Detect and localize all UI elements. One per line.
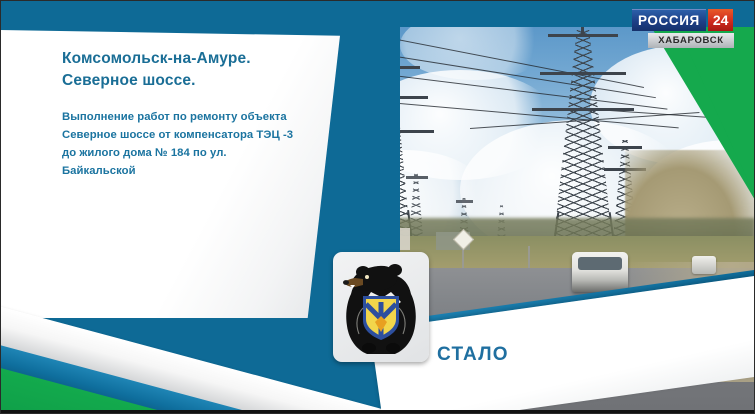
broadcast-screen: Комсомольск-на-Амуре. Северное шоссе. Вы… — [0, 0, 755, 414]
info-card: Комсомольск-на-Амуре. Северное шоссе. Вы… — [0, 30, 340, 318]
page-title: Комсомольск-на-Амуре. Северное шоссе. — [62, 48, 302, 92]
channel-number-label: 24 — [708, 9, 734, 31]
channel-region-label: ХАБАРОВСК — [648, 33, 734, 48]
status-badge: СТАЛО — [437, 344, 509, 366]
bottom-black-bar — [0, 410, 755, 414]
title-line-1: Комсомольск-на-Амуре. — [62, 50, 251, 67]
channel-logo: РОССИЯ 24 ХАБАРОВСК — [632, 9, 744, 49]
vehicle — [572, 252, 628, 292]
channel-name-label: РОССИЯ — [632, 9, 706, 31]
description-text: Выполнение работ по ремонту объекта Севе… — [62, 109, 302, 180]
sign-post — [528, 246, 530, 270]
vehicle — [692, 256, 716, 274]
coat-of-arms-komsomolsk-na-amure — [333, 252, 429, 362]
title-line-2: Северное шоссе. — [62, 72, 196, 89]
